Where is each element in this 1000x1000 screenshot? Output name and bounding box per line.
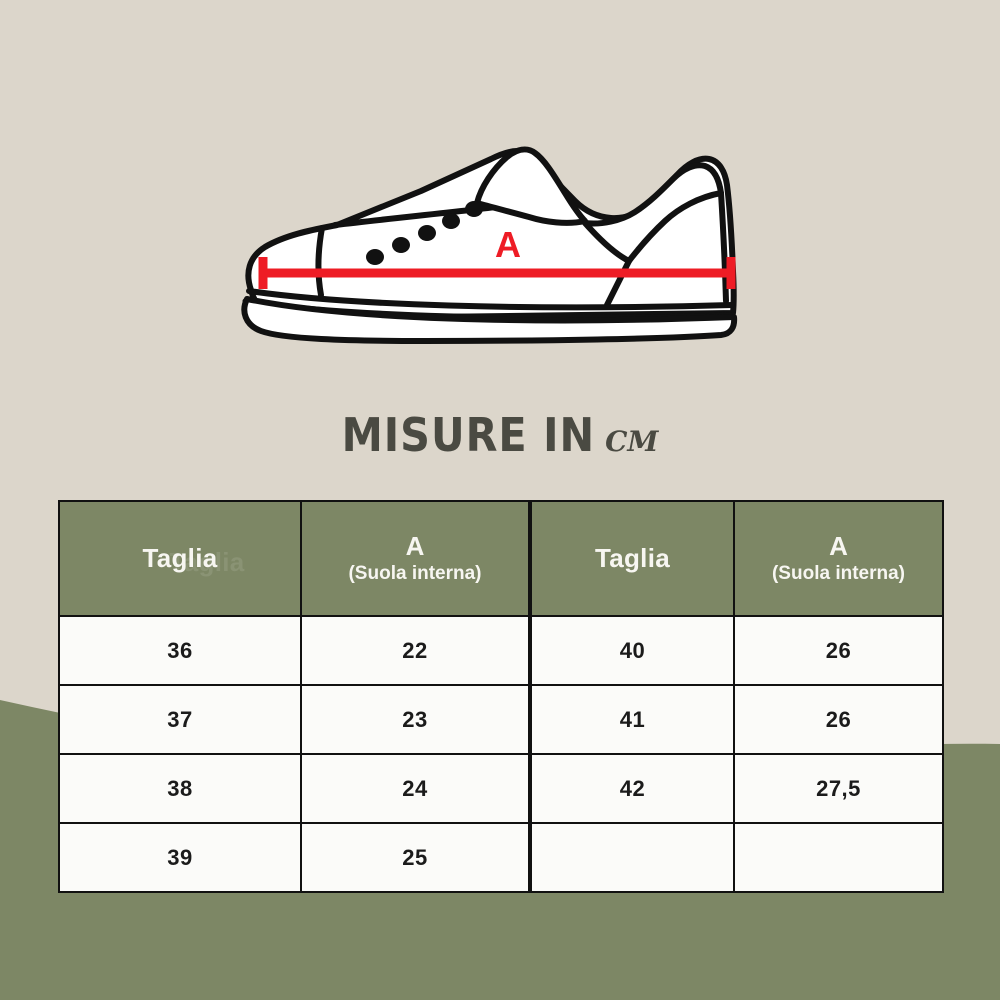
sneaker-illustration: A [225, 105, 765, 345]
header-size: Taglia [531, 501, 734, 616]
table-row: 38 24 [59, 754, 529, 823]
cell-measure-a: 22 [301, 616, 529, 685]
size-table-left: Taglia Taglia A (Suola interna) 36 22 37… [58, 500, 530, 893]
cell-measure-a: 24 [301, 754, 529, 823]
header-a-letter: A [735, 532, 942, 561]
cell-size: 42 [531, 754, 734, 823]
table-row: 42 27,5 [531, 754, 943, 823]
cell-size: 40 [531, 616, 734, 685]
page-title: MISURE INcm [0, 412, 1000, 458]
table-row: 39 25 [59, 823, 529, 892]
title-main: MISURE IN [342, 408, 596, 462]
table-header-row: Taglia A (Suola interna) [531, 501, 943, 616]
cell-measure-a: 26 [734, 616, 943, 685]
header-size-label: Taglia [142, 543, 217, 573]
cell-size: 36 [59, 616, 301, 685]
table-row: 37 23 [59, 685, 529, 754]
cell-measure-a: 23 [301, 685, 529, 754]
cell-size: 37 [59, 685, 301, 754]
measure-label-a: A [495, 224, 521, 265]
header-a-sublabel: (Suola interna) [302, 564, 528, 585]
size-table-right: Taglia A (Suola interna) 40 26 41 26 42 … [530, 500, 944, 893]
header-size: Taglia Taglia [59, 501, 301, 616]
toe-cap-seam [318, 228, 322, 295]
cell-size: 41 [531, 685, 734, 754]
cell-size: 38 [59, 754, 301, 823]
table-row: 36 22 [59, 616, 529, 685]
header-size-label: Taglia [595, 543, 670, 573]
header-a-sublabel: (Suola interna) [735, 564, 942, 585]
table-row [531, 823, 943, 892]
size-chart-page: A MISURE INcm Taglia Taglia A (Suola int… [0, 0, 1000, 1000]
cell-size [531, 823, 734, 892]
header-a-letter: A [302, 532, 528, 561]
table-row: 40 26 [531, 616, 943, 685]
cell-measure-a [734, 823, 943, 892]
table-row: 41 26 [531, 685, 943, 754]
cell-measure-a: 27,5 [734, 754, 943, 823]
table-header-row: Taglia Taglia A (Suola interna) [59, 501, 529, 616]
cell-measure-a: 26 [734, 685, 943, 754]
cell-size: 39 [59, 823, 301, 892]
header-measure-a: A (Suola interna) [734, 501, 943, 616]
cell-measure-a: 25 [301, 823, 529, 892]
title-unit: cm [605, 414, 658, 461]
header-measure-a: A (Suola interna) [301, 501, 529, 616]
